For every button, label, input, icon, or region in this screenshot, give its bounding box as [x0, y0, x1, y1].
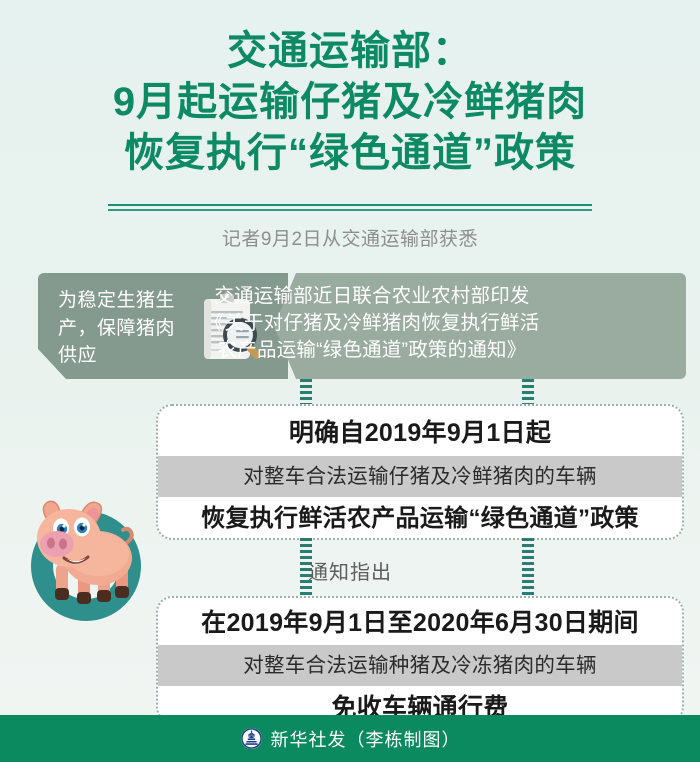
banner-right-label: 交通运输部近日联合农业农村部印发 《关于对仔猪及冷鲜猪肉恢复执行鲜活 农产品运输… [66, 283, 678, 364]
xinhua-logo-icon [240, 727, 263, 750]
page-title: 交通运输部： 9月起运输仔猪及冷鲜猪肉 恢复执行“绿色通道”政策 [0, 26, 700, 180]
card1-line-2: 对整车合法运输仔猪及冷鲜猪肉的车辆 [158, 456, 682, 497]
title-line-2: 9月起运输仔猪及冷鲜猪肉 [0, 77, 700, 128]
info-card-first: 明确自2019年9月1日起 对整车合法运输仔猪及冷鲜猪肉的车辆 恢复执行鲜活农产… [156, 404, 684, 540]
title-divider [108, 204, 592, 211]
info-card-second: 在2019年9月1日至2020年6月30日期间 对整车合法运输种猪及冷冻猪肉的车… [156, 596, 684, 723]
card1-line-1: 明确自2019年9月1日起 [158, 406, 682, 456]
subtitle: 记者9月2日从交通运输部获悉 [0, 224, 700, 251]
card2-line-2: 对整车合法运输种猪及冷冻猪肉的车辆 [158, 645, 682, 686]
title-line-1: 交通运输部： [0, 26, 700, 77]
card1-line-3: 恢复执行鲜活农产品运输“绿色通道”政策 [158, 497, 682, 540]
banner: 为稳定生猪生产，保障猪肉供应 [38, 273, 686, 379]
divider-line-top [108, 204, 592, 206]
pig-illustration [12, 482, 160, 630]
banner-right-line-2: 《关于对仔猪及冷鲜猪肉恢复执行鲜活 [66, 310, 678, 337]
banner-right-line-1: 交通运输部近日联合农业农村部印发 [66, 283, 678, 310]
infographic-poster: 交通运输部： 9月起运输仔猪及冷鲜猪肉 恢复执行“绿色通道”政策 记者9月2日从… [0, 0, 700, 762]
banner-right-line-3: 农产品运输“绿色通道”政策的通知》 [66, 337, 678, 364]
title-line-3: 恢复执行“绿色通道”政策 [0, 128, 700, 179]
divider-line-bottom [108, 209, 592, 211]
connector-dashes-right-top [522, 379, 534, 406]
cartoon-pig-on-teal-ring-icon [12, 482, 160, 630]
footer-bar: 新华社发（李栋制图） [0, 715, 700, 762]
card2-line-1: 在2019年9月1日至2020年6月30日期间 [158, 598, 682, 645]
connector-dashes-left-top [300, 379, 312, 406]
footer-credit: 新华社发（李栋制图） [271, 726, 461, 752]
